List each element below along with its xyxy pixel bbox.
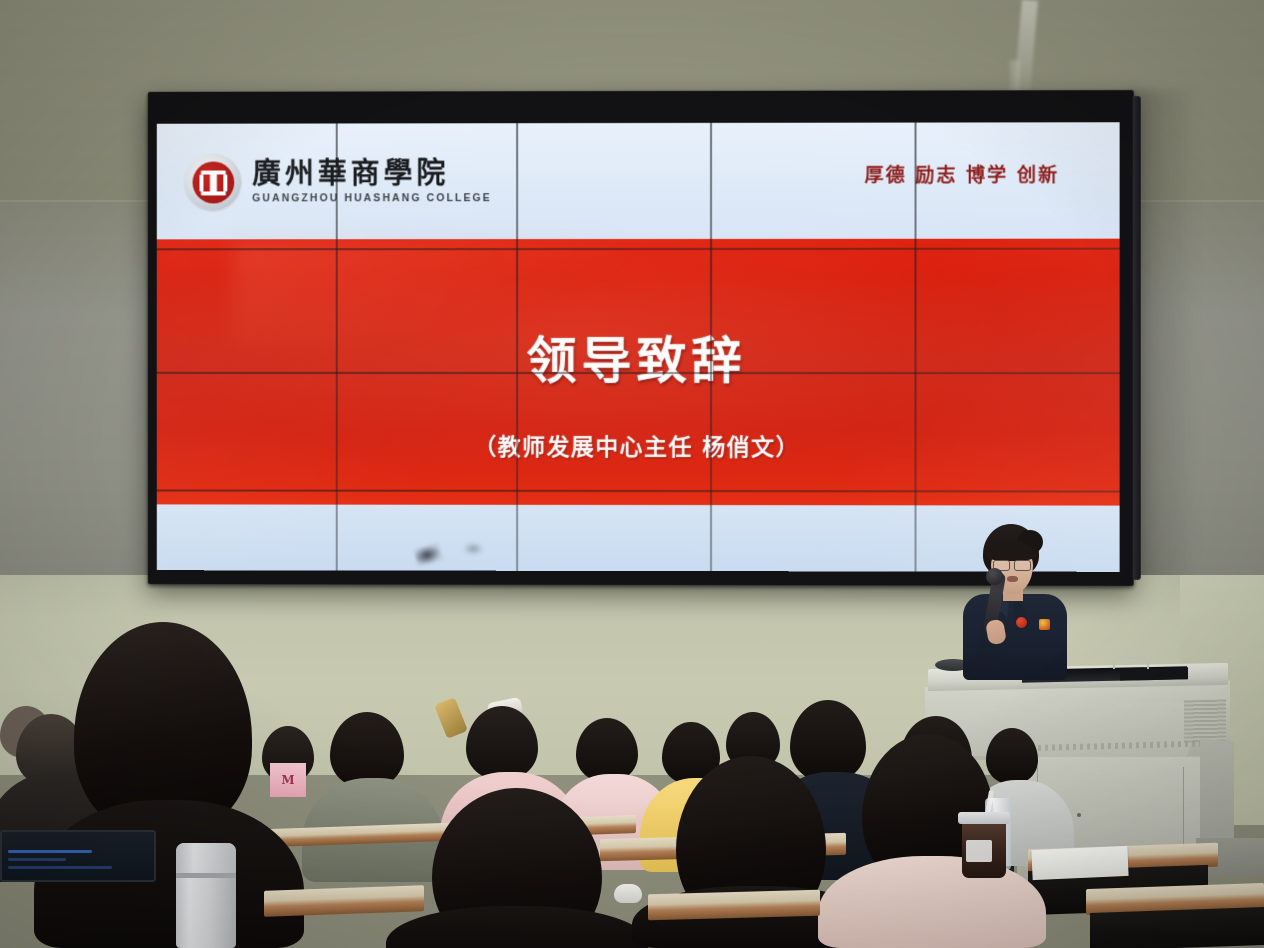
huashang-emblem-icon: [185, 154, 242, 211]
institution-name-block: 廣州華商學院 GUANGZHOU HUASHANG COLLEGE: [252, 159, 492, 204]
presentation-screen[interactable]: 廣州華商學院 GUANGZHOU HUASHANG COLLEGE 厚德 励志 …: [157, 122, 1120, 572]
thermos-band: [176, 873, 236, 878]
computer-mouse-icon[interactable]: [614, 884, 642, 903]
desk-underside: [1090, 907, 1264, 948]
audience-shoulders-foreground: [386, 906, 648, 948]
slide-subtitle: （教师发展中心主任 杨俏文）: [157, 428, 1120, 463]
audience-laptop[interactable]: [0, 830, 156, 882]
laptop-screen-line: [8, 858, 66, 861]
speaker-badge-icon-secondary: [1039, 619, 1050, 630]
audience-desk-foreground: [648, 890, 820, 921]
audience-desk-foreground: [264, 885, 424, 917]
speaker-presenter: [955, 524, 1075, 674]
lectern-door-knob-icon[interactable]: [1077, 813, 1081, 817]
laptop-screen-line: [8, 850, 92, 853]
emblem-bar-bottom: [201, 191, 226, 195]
screen-smudge-secondary: [463, 543, 483, 555]
lectern-handle[interactable]: [1113, 657, 1149, 669]
lecture-hall-scene: 廣州華商學院 GUANGZHOU HUASHANG COLLEGE 厚德 励志 …: [0, 0, 1264, 948]
emblem-tick-left: [199, 174, 203, 191]
slide-title: 领导致辞: [157, 321, 1120, 393]
led-video-wall[interactable]: 廣州華商學院 GUANGZHOU HUASHANG COLLEGE 厚德 励志 …: [148, 90, 1134, 586]
emblem-inner-disc: [192, 161, 234, 203]
desk-pink-note: М: [270, 763, 306, 797]
institution-name-en: GUANGZHOU HUASHANG COLLEGE: [252, 193, 492, 204]
bubble-tea-label: [966, 840, 992, 862]
speaker-mouth: [1007, 576, 1018, 582]
glasses-icon: [993, 560, 1031, 569]
video-wall-bezel-edge: [1133, 96, 1141, 580]
lectern-vent-grille-icon: [1184, 700, 1226, 743]
speaker-fringe: [986, 541, 1036, 561]
laptop-screen-line: [8, 866, 112, 869]
bubble-tea-lid: [958, 812, 1010, 824]
lectern-monitor-recess-right: [1120, 667, 1188, 680]
desk-papers: [1031, 846, 1128, 880]
institution-name-cn: 廣州華商學院: [252, 159, 492, 188]
emblem-tick-right: [223, 174, 227, 191]
thermos-cap: [176, 843, 236, 873]
institution-motto: 厚德 励志 博学 创新: [864, 160, 1059, 187]
screen-smudge: [413, 542, 443, 566]
institution-logo-lockup: 廣州華商學院 GUANGZHOU HUASHANG COLLEGE: [185, 153, 492, 210]
speaker-badge-icon: [1016, 617, 1027, 628]
audience-head: [986, 728, 1038, 784]
